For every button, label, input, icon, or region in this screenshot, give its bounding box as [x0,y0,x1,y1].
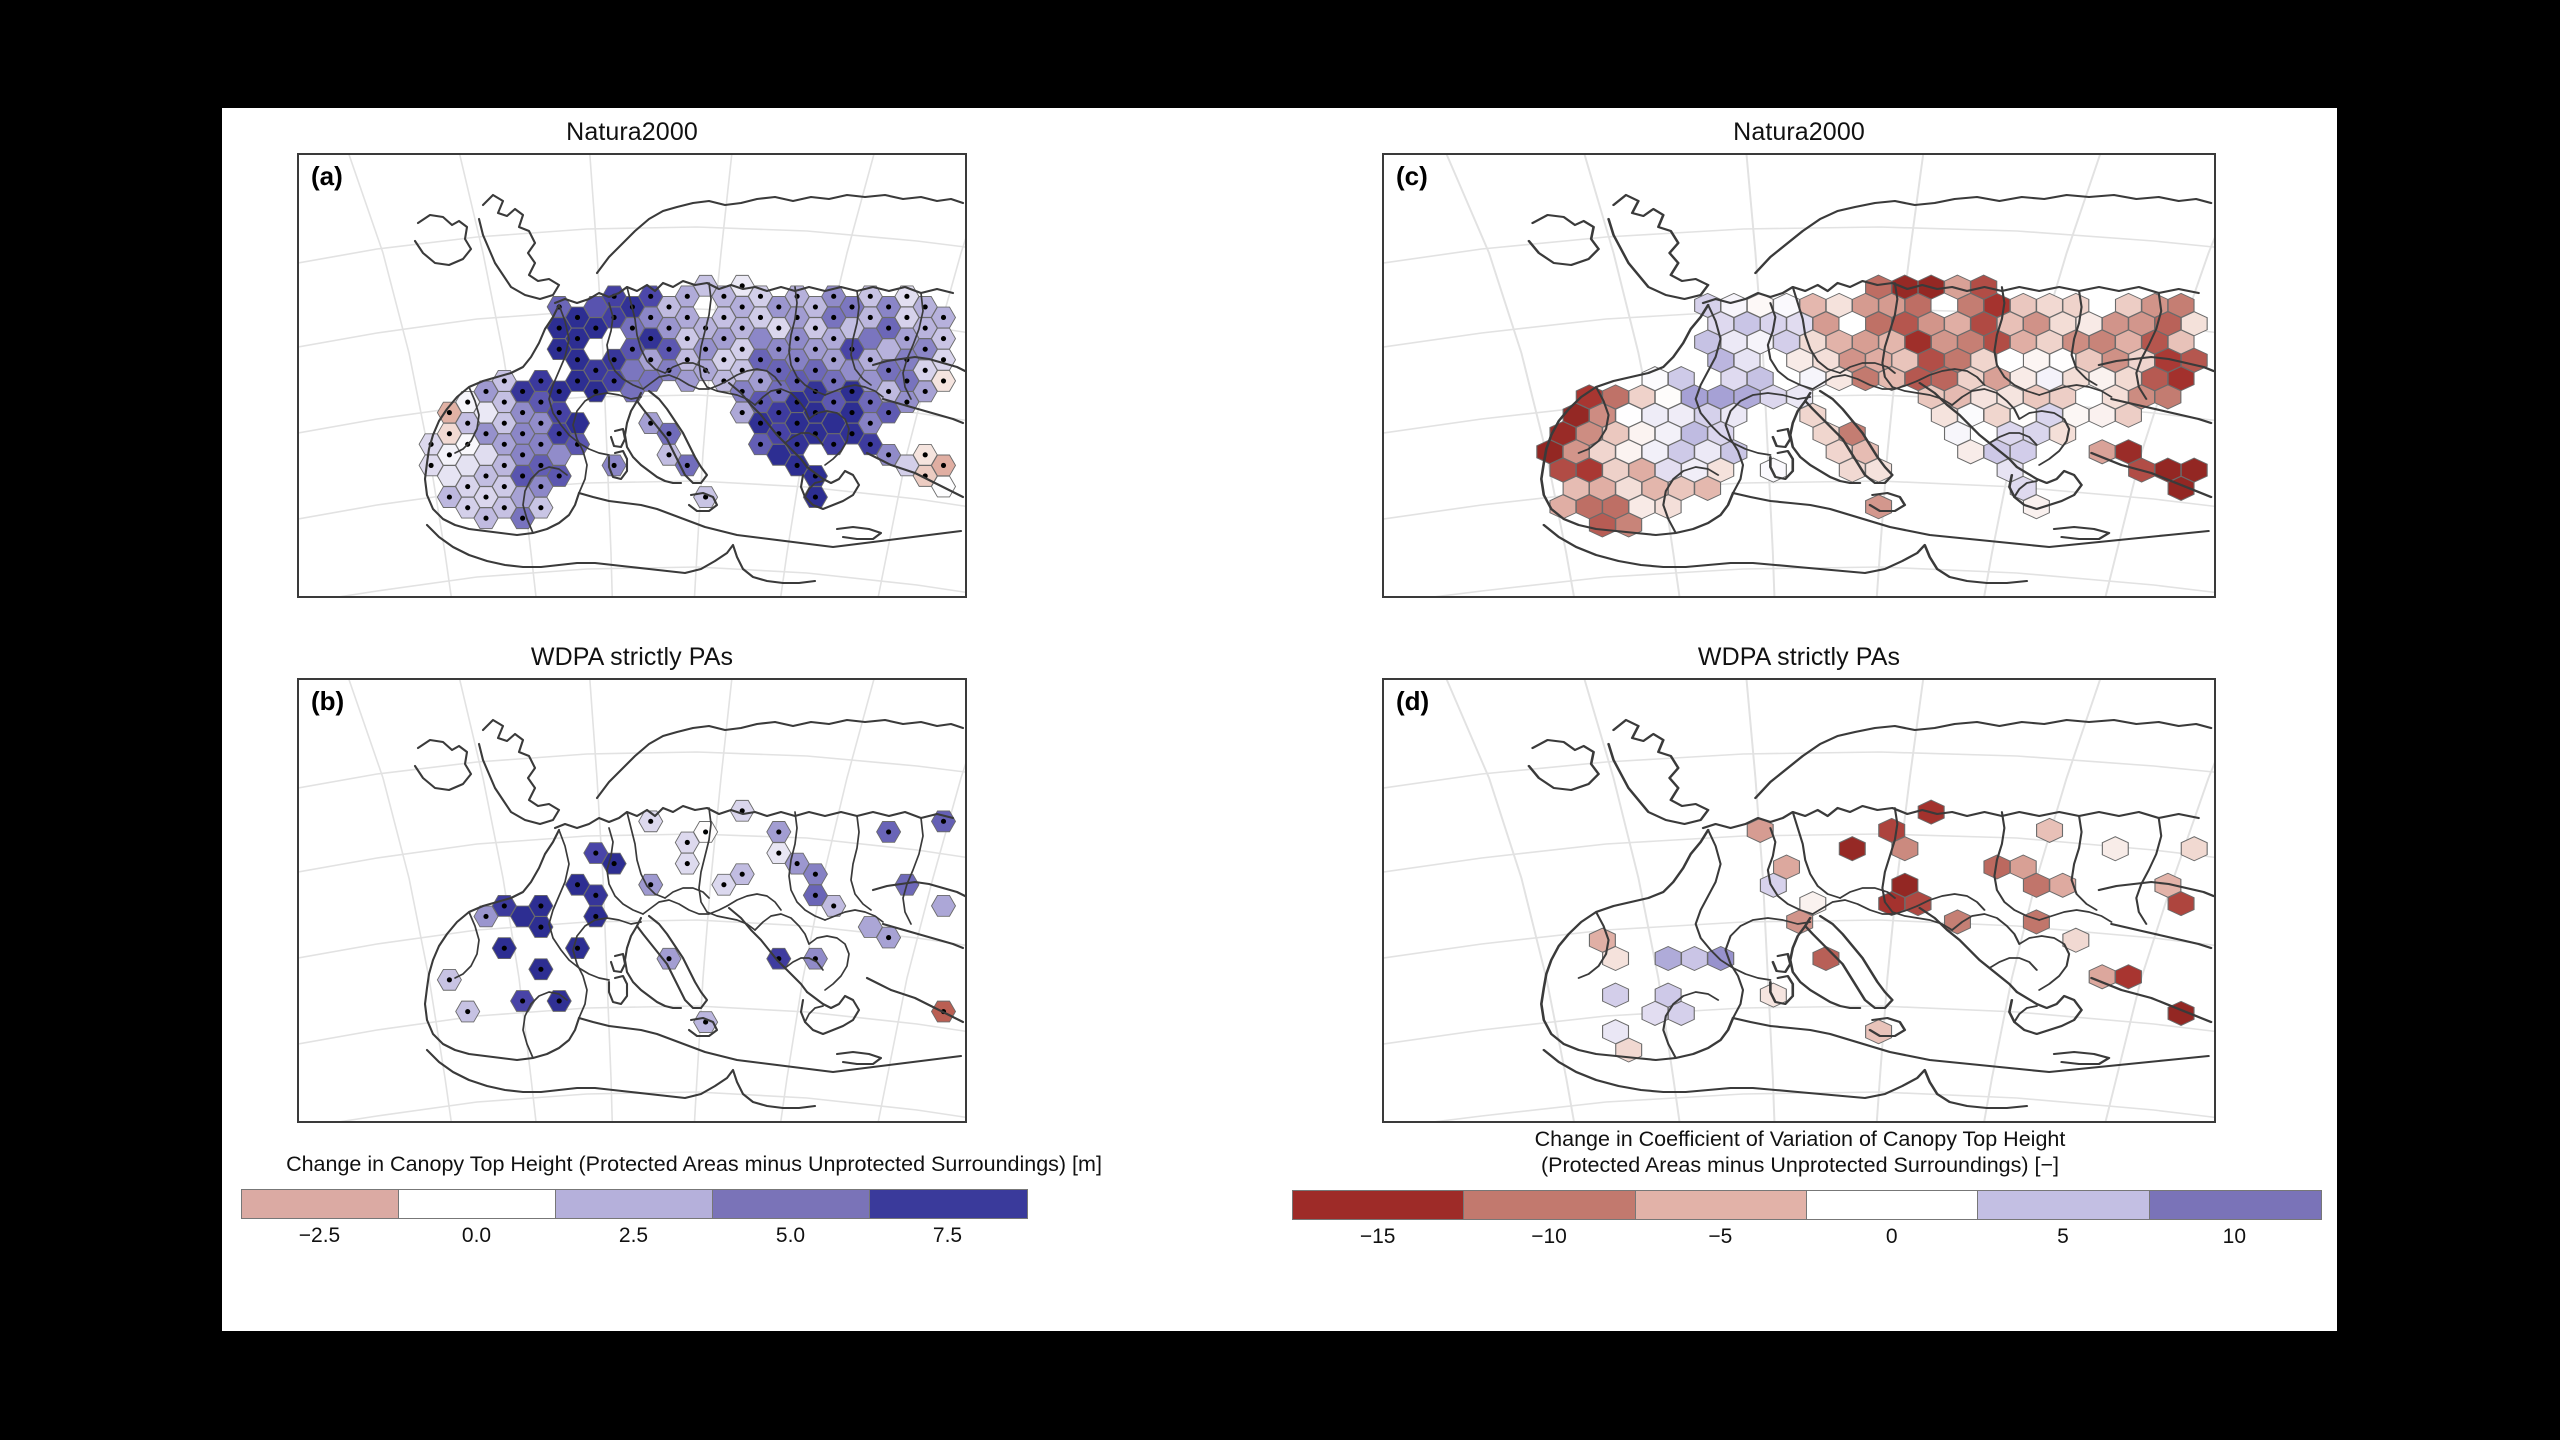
colorbar-canopy-height-bands [241,1189,1026,1219]
colorbar-canopy-height-ticks: −2.50.02.55.07.5 [241,1219,1026,1249]
colorbar-cv-canopy-bands [1292,1190,2320,1220]
colorbar-band-4 [1977,1190,2150,1220]
colorbar-tick-label: 0 [1886,1225,1898,1249]
panel-d-frame [1382,678,2216,1123]
panel-c-title: Natura2000 [1382,118,2216,147]
colorbar-band-0 [241,1189,400,1219]
panel-a-title: Natura2000 [297,118,967,147]
colorbar-tick-label: 10 [2223,1225,2246,1249]
panel-d: WDPA strictly PAs (d) [1382,678,2216,1123]
colorbar-tick-label: −5 [1708,1225,1732,1249]
colorbar-band-3 [712,1189,871,1219]
colorbar-band-2 [1635,1190,1808,1220]
colorbar-tick-label: 7.5 [933,1224,962,1248]
colorbar-cv-canopy: Change in Coefficient of Variation of Ca… [1270,1126,2330,1250]
colorbar-band-3 [1806,1190,1979,1220]
panel-c-tag: (c) [1396,161,1428,192]
colorbar-tick-label: 2.5 [619,1224,648,1248]
colorbar-tick-label: 5.0 [776,1224,805,1248]
colorbar-band-5 [2149,1190,2322,1220]
figure-canvas: Natura2000 (a) WDPA strictly PAs (b) Nat… [222,108,2337,1331]
colorbar-cv-canopy-title-line1: Change in Coefficient of Variation of Ca… [1270,1126,2330,1152]
panel-d-tag: (d) [1396,686,1429,717]
panel-b: WDPA strictly PAs (b) [297,678,967,1123]
colorbar-band-2 [555,1189,714,1219]
panel-a-frame [297,153,967,598]
colorbar-cv-canopy-ticks: −15−10−50510 [1292,1220,2320,1250]
colorbar-band-4 [869,1189,1028,1219]
panel-a-tag: (a) [311,161,343,192]
colorbar-tick-label: −15 [1360,1225,1396,1249]
panel-b-title: WDPA strictly PAs [297,643,967,672]
colorbar-tick-label: 0.0 [462,1224,491,1248]
colorbar-canopy-height: Change in Canopy Top Height (Protected A… [219,1151,1169,1249]
panel-c: Natura2000 (c) [1382,153,2216,598]
colorbar-cv-canopy-title-line2: (Protected Areas minus Unprotected Surro… [1270,1152,2330,1178]
colorbar-band-0 [1292,1190,1465,1220]
colorbar-canopy-height-title: Change in Canopy Top Height (Protected A… [219,1151,1169,1177]
colorbar-tick-label: −2.5 [299,1224,340,1248]
panel-d-title: WDPA strictly PAs [1382,643,2216,672]
panel-b-frame [297,678,967,1123]
panel-c-frame [1382,153,2216,598]
panel-a: Natura2000 (a) [297,153,967,598]
colorbar-band-1 [398,1189,557,1219]
colorbar-band-1 [1463,1190,1636,1220]
colorbar-tick-label: −10 [1531,1225,1567,1249]
panel-b-tag: (b) [311,686,344,717]
colorbar-tick-label: 5 [2057,1225,2069,1249]
